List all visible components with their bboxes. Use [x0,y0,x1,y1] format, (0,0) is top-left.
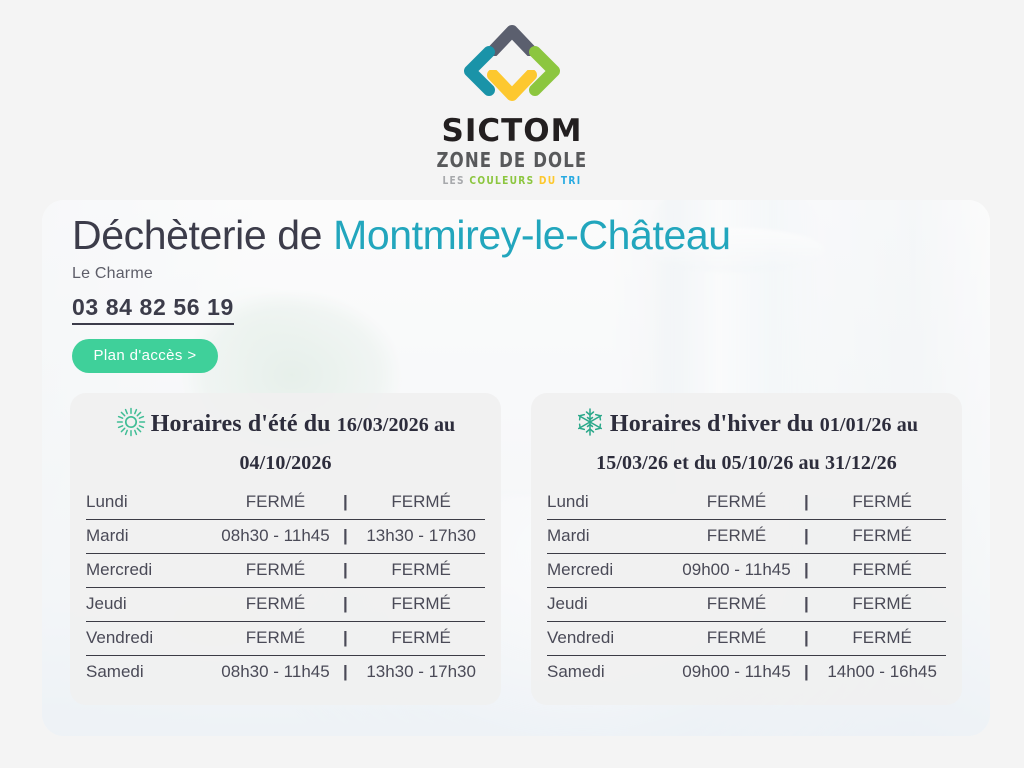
logo-tagline: LES COULEURS DU TRI [437,175,588,186]
table-row: Samedi 08h30 - 11h45 | 13h30 - 17h30 [86,656,485,690]
afternoon-hours: FERMÉ [818,486,946,520]
day-label: Mercredi [547,554,679,588]
afternoon-hours: FERMÉ [357,588,485,622]
afternoon-hours: 14h00 - 16h45 [818,656,946,690]
afternoon-hours: FERMÉ [357,486,485,520]
summer-title-text: Horaires d'été du [151,411,337,437]
morning-hours: 08h30 - 11h45 [218,520,334,554]
sictom-logo-mark [460,22,564,110]
chevron-bottom-icon [487,70,537,104]
table-row: Lundi FERMÉ | FERMÉ [547,486,946,520]
morning-hours: FERMÉ [218,622,334,656]
day-label: Mardi [86,520,218,554]
hours-separator: | [794,554,818,588]
summer-card-title: Horaires d'été du 16/03/2026 au 04/10/20… [86,407,485,478]
logo-wordmark: SICTOM ZONE DE DOLE LES COULEURS DU TRI [430,116,594,186]
table-row: Vendredi FERMÉ | FERMÉ [86,622,485,656]
hours-separator: | [794,622,818,656]
hours-separator: | [794,588,818,622]
morning-hours: FERMÉ [218,554,334,588]
summer-hours-table: Lundi FERMÉ | FERMÉ Mardi 08h30 - 11h45 … [86,486,485,689]
afternoon-hours: FERMÉ [818,554,946,588]
winter-title-text: Horaires d'hiver du [610,411,820,437]
table-row: Jeudi FERMÉ | FERMÉ [86,588,485,622]
tagline-part-tri: TRI [561,174,581,187]
day-label: Samedi [86,656,218,690]
phone-link[interactable]: 03 84 82 56 19 [72,294,234,325]
logo-subtitle: ZONE DE DOLE [437,150,588,170]
schedule-cards: Horaires d'été du 16/03/2026 au 04/10/20… [70,393,962,705]
table-row: Mercredi 09h00 - 11h45 | FERMÉ [547,554,946,588]
afternoon-hours: FERMÉ [818,588,946,622]
facility-address: Le Charme [72,265,731,283]
hours-separator: | [333,588,357,622]
facility-header: Déchèterie de Montmirey-le-Château Le Ch… [72,212,731,373]
morning-hours: FERMÉ [218,486,334,520]
page-title-prefix: Déchèterie de [72,212,333,258]
afternoon-hours: 13h30 - 17h30 [357,656,485,690]
morning-hours: FERMÉ [679,622,795,656]
table-row: Mercredi FERMÉ | FERMÉ [86,554,485,588]
day-label: Jeudi [547,588,679,622]
day-label: Mardi [547,520,679,554]
morning-hours: 09h00 - 11h45 [679,656,795,690]
day-label: Lundi [86,486,218,520]
logo-name: SICTOM [430,116,594,147]
afternoon-hours: FERMÉ [357,622,485,656]
day-label: Vendredi [547,622,679,656]
day-label: Samedi [547,656,679,690]
table-row: Lundi FERMÉ | FERMÉ [86,486,485,520]
site-logo: SICTOM ZONE DE DOLE LES COULEURS DU TRI [0,22,1024,192]
hours-separator: | [794,486,818,520]
page-title: Déchèterie de Montmirey-le-Château [72,212,731,259]
morning-hours: FERMÉ [679,520,795,554]
page-title-place: Montmirey-le-Château [333,212,731,258]
morning-hours: FERMÉ [679,486,795,520]
day-label: Lundi [547,486,679,520]
hours-separator: | [794,520,818,554]
winter-card-title: Horaires d'hiver du 01/01/26 au 15/03/26… [547,407,946,478]
morning-hours: FERMÉ [218,588,334,622]
snowflake-icon [575,407,605,447]
table-row: Jeudi FERMÉ | FERMÉ [547,588,946,622]
afternoon-hours: 13h30 - 17h30 [357,520,485,554]
afternoon-hours: FERMÉ [357,554,485,588]
summer-schedule-card: Horaires d'été du 16/03/2026 au 04/10/20… [70,393,501,705]
morning-hours: 09h00 - 11h45 [679,554,795,588]
tagline-part-les: LES [443,174,470,187]
morning-hours: FERMÉ [679,588,795,622]
tagline-part-du: DU [539,174,561,187]
hours-separator: | [333,622,357,656]
table-row: Vendredi FERMÉ | FERMÉ [547,622,946,656]
hours-separator: | [333,554,357,588]
facility-panel: Déchèterie de Montmirey-le-Château Le Ch… [42,200,990,736]
day-label: Mercredi [86,554,218,588]
hours-separator: | [333,520,357,554]
day-label: Jeudi [86,588,218,622]
winter-schedule-card: Horaires d'hiver du 01/01/26 au 15/03/26… [531,393,962,705]
hours-separator: | [333,486,357,520]
table-row: Samedi 09h00 - 11h45 | 14h00 - 16h45 [547,656,946,690]
afternoon-hours: FERMÉ [818,622,946,656]
day-label: Vendredi [86,622,218,656]
table-row: Mardi FERMÉ | FERMÉ [547,520,946,554]
afternoon-hours: FERMÉ [818,520,946,554]
winter-hours-table: Lundi FERMÉ | FERMÉ Mardi FERMÉ | FERMÉ … [547,486,946,689]
map-access-button[interactable]: Plan d'accès > [72,339,218,373]
hours-separator: | [794,656,818,690]
table-row: Mardi 08h30 - 11h45 | 13h30 - 17h30 [86,520,485,554]
tagline-part-couleurs: COULEURS [469,174,539,187]
hours-separator: | [333,656,357,690]
morning-hours: 08h30 - 11h45 [218,656,334,690]
sun-icon [116,407,146,447]
